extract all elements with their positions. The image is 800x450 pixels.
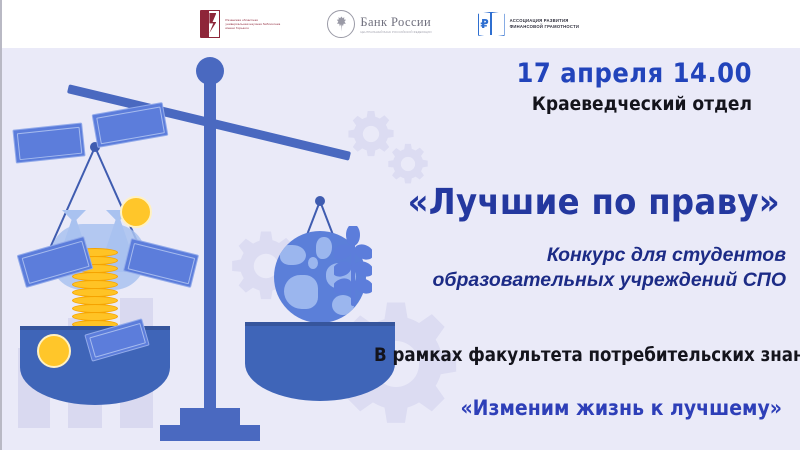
double-headed-eagle-icon	[327, 10, 355, 38]
logo-bank-of-russia: Банк России ЦЕНТРАЛЬНЫЙ БАНК РОССИЙСКОЙ …	[327, 10, 431, 38]
logo-financial-literacy-association: ₽ АССОЦИАЦИЯ РАЗВИТИЯ ФИНАНСОВОЙ ГРАМОТН…	[478, 12, 602, 36]
event-datetime: 17 апреля 14.00	[374, 58, 752, 89]
gold-coin-upper	[120, 196, 152, 228]
poster-canvas: 17 апреля 14.00 Краеведческий отдел «Луч…	[2, 48, 800, 450]
scales-of-justice-illustration	[2, 48, 402, 450]
poster-root: Рязанская областная универсальная научна…	[0, 0, 800, 450]
event-subtitle-line2: образовательных учреждений СПО	[374, 268, 786, 293]
open-book-icon	[200, 10, 220, 38]
gold-coin-lower	[37, 334, 71, 368]
sponsor-logo-band: Рязанская областная универсальная научна…	[2, 0, 800, 48]
event-venue: Краеведческий отдел	[374, 93, 752, 115]
event-slogan: «Изменим жизнь к лучшему»	[374, 396, 782, 420]
logo-gorky-library: Рязанская областная универсальная научна…	[200, 10, 281, 38]
logo-gorky-library-label: Рязанская областная универсальная научна…	[225, 18, 281, 31]
logo-bank-of-russia-subtitle: ЦЕНТРАЛЬНЫЙ БАНК РОССИЙСКОЙ ФЕДЕРАЦИИ	[360, 31, 431, 34]
logo-financial-literacy-association-label: АССОЦИАЦИЯ РАЗВИТИЯ ФИНАНСОВОЙ ГРАМОТНОС…	[510, 18, 602, 30]
banknote-2	[92, 102, 169, 148]
page-title: «Лучшие по праву»	[374, 182, 780, 223]
scales-base-upper	[180, 408, 240, 425]
banknote-1	[12, 122, 85, 163]
logo-bank-of-russia-title: Банк России	[360, 15, 431, 30]
wheat-branch-icon	[334, 226, 372, 313]
book-ruble-icon: ₽	[478, 12, 505, 36]
event-framework: В рамках факультета потребительских знан…	[374, 345, 788, 366]
ruble-symbol: ₽	[480, 17, 489, 31]
scales-base-lower	[160, 425, 260, 441]
event-subtitle: Конкурс для студентов образовательных уч…	[374, 243, 786, 293]
right-pan	[245, 326, 395, 401]
event-subtitle-line1: Конкурс для студентов	[374, 243, 786, 268]
poster-text-column: 17 апреля 14.00 Краеведческий отдел «Луч…	[374, 48, 792, 450]
